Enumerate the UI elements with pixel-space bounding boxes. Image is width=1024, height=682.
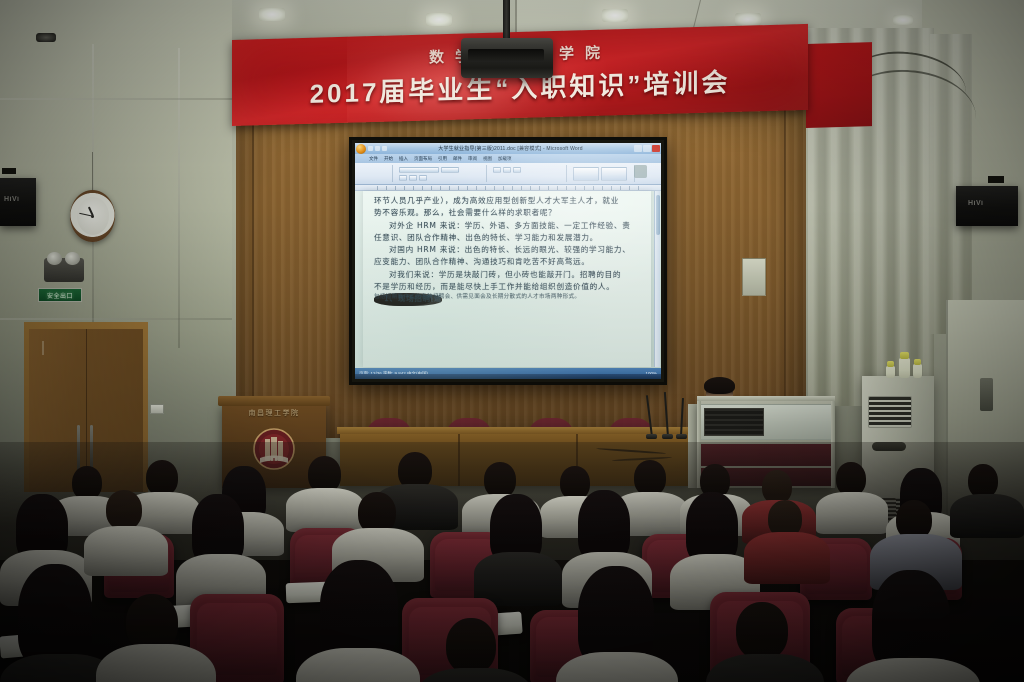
audience-head-front xyxy=(736,602,788,660)
microphone-base xyxy=(646,434,657,439)
ac-vent-grille xyxy=(868,396,912,428)
audience-head-front xyxy=(446,618,496,674)
document-scrollbar[interactable] xyxy=(654,191,660,367)
institution-name-plate: 南昌理工学院 xyxy=(222,408,326,418)
audience-head xyxy=(560,466,590,500)
maximize-icon xyxy=(643,145,651,152)
bold-icon[interactable] xyxy=(399,175,407,181)
water-bottle xyxy=(913,364,922,378)
audience-shoulders xyxy=(816,492,888,534)
microphone-base xyxy=(662,434,673,439)
audience-long-hair xyxy=(18,564,92,668)
tab-mailings[interactable]: 邮件 xyxy=(453,156,462,162)
style-normal[interactable] xyxy=(573,167,599,181)
audience-head xyxy=(762,470,792,504)
ceiling-light xyxy=(893,15,913,25)
screen-artifact xyxy=(634,165,647,178)
audience-head xyxy=(836,462,866,496)
analog-wall-clock xyxy=(70,190,115,242)
doc-line: 不是学历和经历，而是能尽快上手工作并能给组织创造价值的人。 xyxy=(374,281,640,293)
speaker-bracket xyxy=(2,168,16,174)
audience-head xyxy=(72,466,102,500)
doc-line: 势不容乐观。那么，社会需要什么样的求职者呢？ xyxy=(374,207,640,219)
clock-hanging-wire xyxy=(92,152,93,192)
scrollbar-thumb[interactable] xyxy=(656,195,660,235)
projection-screen: 大学生就业指导(第三版)2011.doc [兼容模式] - Microsoft … xyxy=(349,137,667,385)
audience-head xyxy=(634,460,666,496)
word-document-page[interactable]: 环节人员几乎产业），成为高效应用型创新型人才大军主人才，就业 势不容乐观。那么，… xyxy=(363,191,651,367)
ceiling-light xyxy=(602,9,628,22)
wall-light-switch[interactable] xyxy=(150,404,164,414)
tab-insert[interactable]: 插入 xyxy=(399,156,408,162)
auditorium-scene: 数学与统计学院 2017届毕业生“入职知识”培训会 大学生就业指导(第三版)20… xyxy=(0,0,1024,682)
tab-review[interactable]: 审阅 xyxy=(468,156,477,162)
stage-table-top xyxy=(337,427,695,434)
emergency-light xyxy=(44,258,84,282)
font-name-box[interactable] xyxy=(399,167,439,173)
close-icon xyxy=(652,145,660,152)
align-center-icon[interactable] xyxy=(503,167,511,173)
wood-seam xyxy=(252,108,254,438)
tab-references[interactable]: 引用 xyxy=(438,156,447,162)
audience-head xyxy=(484,462,516,498)
speaker-bracket xyxy=(988,176,1004,183)
doc-line: 对我们来说：学历是块敲门砖，但小砖也能敲开门。招聘的目的 xyxy=(374,269,640,281)
word-ribbon-tabs[interactable]: 文件 开始 插入 页面布局 引用 邮件 审阅 视图 加载项 xyxy=(355,154,661,163)
exit-sign: 安全出口 xyxy=(38,288,82,302)
wall-seam xyxy=(0,98,232,100)
audience-shoulders xyxy=(744,532,830,584)
doc-line: 对国内 HRM 来说：出色的特长、长远的眼光、较强的学习能力、 xyxy=(374,244,640,256)
microphone-base xyxy=(676,434,687,439)
tab-home[interactable]: 开始 xyxy=(384,156,393,162)
tab-addins[interactable]: 加载项 xyxy=(498,156,512,162)
doc-line: 应变能力、团队合作精神、沟通技巧和肯吃苦不好高骛远。 xyxy=(374,256,640,268)
lectern-top xyxy=(218,396,330,406)
clock-face xyxy=(77,197,109,235)
audience-shoulders xyxy=(84,526,168,576)
style-heading[interactable] xyxy=(601,167,627,181)
word-title-bar: 大学生就业指导(第三版)2011.doc [兼容模式] - Microsoft … xyxy=(355,143,661,154)
audience-head xyxy=(146,460,178,496)
doc-line: 对外企 HRM 来说：学历、外语、多方面技能、一定工作经验、责 xyxy=(374,220,640,232)
bottle-cap xyxy=(900,352,909,359)
ceiling-projector xyxy=(461,38,553,78)
wood-seam xyxy=(784,108,786,438)
window-buttons[interactable] xyxy=(634,145,660,152)
bottle-cap xyxy=(914,359,921,365)
ceiling-light xyxy=(259,8,285,21)
audience-shoulders xyxy=(950,494,1024,538)
word-ribbon[interactable] xyxy=(355,163,661,185)
underline-icon[interactable] xyxy=(419,175,427,181)
speaker-right-brand-label: HiVi xyxy=(968,200,984,207)
wall-mounted-box xyxy=(980,378,993,411)
console-equipment-rack xyxy=(704,408,764,436)
office-orb-icon[interactable] xyxy=(356,144,366,154)
align-left-icon[interactable] xyxy=(493,167,501,173)
ribbon-group-clipboard[interactable] xyxy=(359,165,393,182)
projector-mount-pole xyxy=(503,0,510,40)
water-bottle xyxy=(886,366,895,378)
wall-panel-plate xyxy=(742,258,766,296)
tab-page-layout[interactable]: 页面布局 xyxy=(414,156,432,162)
presenter-hair xyxy=(704,377,735,394)
wall-seam xyxy=(178,48,180,348)
door-closer-arm xyxy=(42,341,44,355)
doc-line: 任意识、团队合作精神、出色的特长、学习能力和发展潜力。 xyxy=(374,232,640,244)
align-right-icon[interactable] xyxy=(513,167,521,173)
banner-right-tail xyxy=(806,42,872,128)
windows-taskbar[interactable] xyxy=(355,374,661,379)
doc-line: 包括短期集中式的各种招聘会、供需见面会及长期分散式的人才市场两种形式。 xyxy=(374,293,640,302)
doc-line: 环节人员几乎产业），成为高效应用型创新型人才大军主人才，就业 xyxy=(374,195,640,207)
speaker-left-brand-label: HiVi xyxy=(4,196,20,203)
speaker-right xyxy=(956,186,1018,226)
water-bottle xyxy=(899,358,910,378)
console-top-rail xyxy=(697,396,835,401)
emergency-lamp xyxy=(65,252,80,265)
emergency-lamp xyxy=(47,252,62,265)
wall-seam xyxy=(0,318,232,320)
projection-screen-surface: 大学生就业指导(第三版)2011.doc [兼容模式] - Microsoft … xyxy=(355,143,661,379)
word-document-title: 大学生就业指导(第三版)2011.doc [兼容模式] - Microsoft … xyxy=(387,145,634,152)
audience-shoulders xyxy=(286,488,364,532)
audience-area xyxy=(0,442,1024,682)
italic-icon[interactable] xyxy=(409,175,417,181)
audience-long-hair xyxy=(320,560,398,660)
font-size-box[interactable] xyxy=(441,167,459,173)
exit-sign-text: 安全出口 xyxy=(47,291,73,300)
ceiling-light xyxy=(426,13,452,26)
clock-center-pin xyxy=(91,215,94,218)
audience-head xyxy=(968,464,998,498)
minimize-icon xyxy=(634,145,642,152)
projector-lens xyxy=(36,33,56,42)
bottle-cap xyxy=(887,361,894,367)
tab-view[interactable]: 视图 xyxy=(483,156,492,162)
audience-head xyxy=(106,490,142,530)
quick-access-toolbar[interactable] xyxy=(368,146,387,151)
tab-file[interactable]: 文件 xyxy=(369,156,378,162)
ceiling-light xyxy=(735,13,761,26)
